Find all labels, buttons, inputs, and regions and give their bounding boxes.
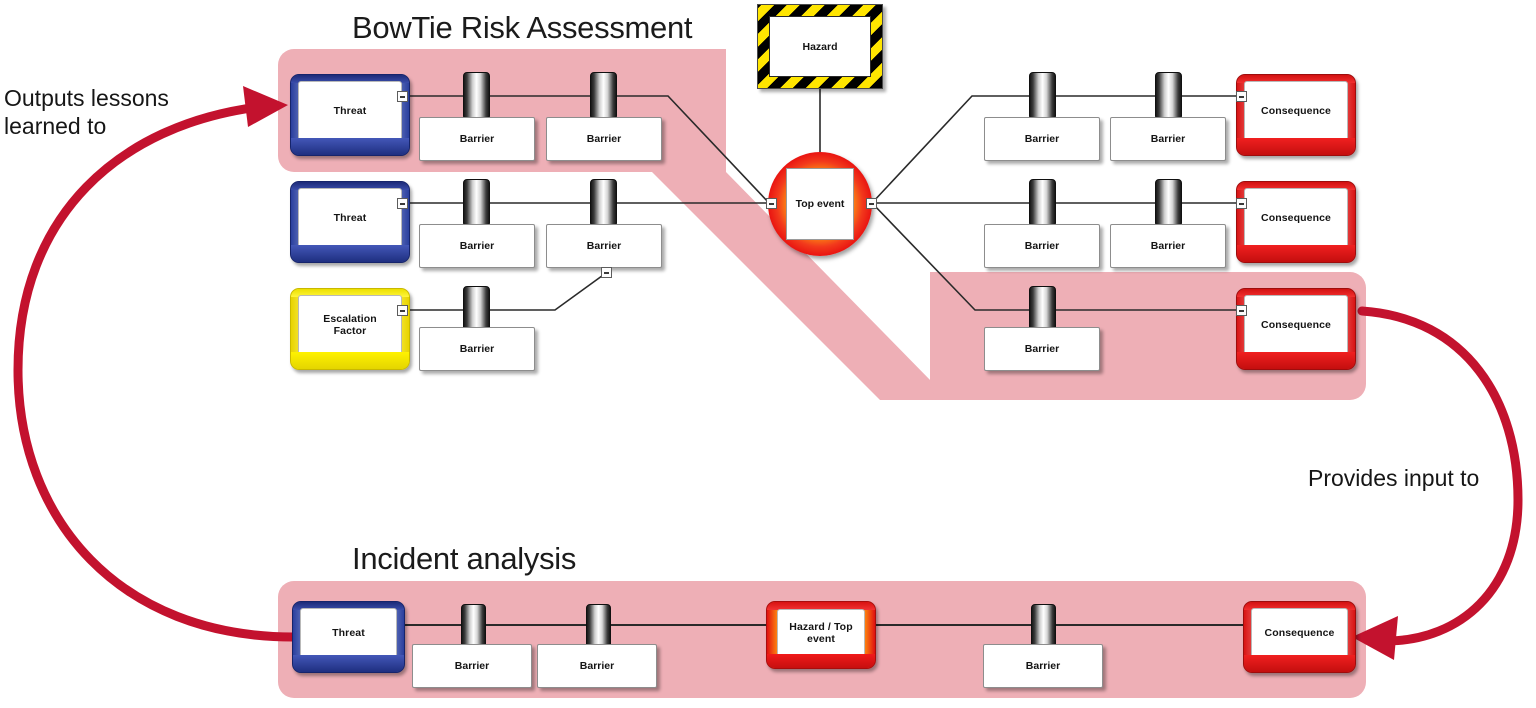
barrier-gate-threat2-a[interactable] — [463, 179, 490, 227]
hazard-box-label: Hazard — [769, 16, 871, 77]
threat-2-connector-knob[interactable] — [397, 198, 408, 209]
escalation-link-knob[interactable] — [601, 267, 612, 278]
consequence-3-connector-knob[interactable] — [1236, 305, 1247, 316]
escalation-connector-knob[interactable] — [397, 305, 408, 316]
consequence-box-3[interactable]: Consequence — [1236, 288, 1356, 370]
threat-box-2[interactable]: Threat — [290, 181, 410, 263]
top-event-right-knob[interactable] — [866, 198, 877, 209]
consequence-box-1-label: Consequence — [1244, 81, 1348, 141]
barrier-gate-threat2-b[interactable] — [590, 179, 617, 227]
top-event-label: Top event — [786, 168, 854, 240]
hazard-box[interactable]: Hazard — [757, 4, 883, 89]
barrier-threat2-a[interactable]: Barrier — [419, 224, 535, 268]
cycle-label-provides-input-to: Provides input to — [1308, 464, 1479, 492]
bowtie-risk-assessment-diagram: BowTie Risk Assessment Incident analysis… — [0, 0, 1536, 708]
barrier-cons2-a[interactable]: Barrier — [984, 224, 1100, 268]
incident-consequence-box[interactable]: Consequence — [1243, 601, 1356, 673]
incident-barrier-gate-b[interactable] — [586, 604, 611, 648]
incident-barrier-gate-c[interactable] — [1031, 604, 1056, 648]
incident-hazard-top-event-label: Hazard / Top event — [777, 609, 865, 657]
barrier-gate-threat1-a[interactable] — [463, 72, 490, 120]
incident-threat-label: Threat — [300, 608, 397, 658]
incident-consequence-label: Consequence — [1251, 608, 1348, 658]
consequence-box-2-label: Consequence — [1244, 188, 1348, 248]
barrier-cons1-b[interactable]: Barrier — [1110, 117, 1226, 161]
page-title-incident: Incident analysis — [352, 541, 576, 577]
threat-box-1[interactable]: Threat — [290, 74, 410, 156]
incident-barrier-c[interactable]: Barrier — [983, 644, 1103, 688]
barrier-gate-cons2-a[interactable] — [1029, 179, 1056, 227]
barrier-gate-cons2-b[interactable] — [1155, 179, 1182, 227]
barrier-threat2-b[interactable]: Barrier — [546, 224, 662, 268]
escalation-factor-box[interactable]: Escalation Factor — [290, 288, 410, 370]
page-title-bowtie: BowTie Risk Assessment — [352, 10, 692, 46]
incident-barrier-a[interactable]: Barrier — [412, 644, 532, 688]
barrier-cons1-a[interactable]: Barrier — [984, 117, 1100, 161]
barrier-escalation-a[interactable]: Barrier — [419, 327, 535, 371]
incident-hazard-top-event-box[interactable]: Hazard / Top event — [766, 601, 876, 669]
top-event-circle[interactable]: Top event — [768, 152, 872, 256]
incident-barrier-gate-a[interactable] — [461, 604, 486, 648]
barrier-gate-cons1-b[interactable] — [1155, 72, 1182, 120]
escalation-factor-label: Escalation Factor — [298, 295, 402, 355]
line-escalation-to-barrier — [410, 273, 606, 310]
threat-1-connector-knob[interactable] — [397, 91, 408, 102]
threat-box-1-label: Threat — [298, 81, 402, 141]
barrier-threat1-a[interactable]: Barrier — [419, 117, 535, 161]
threat-box-2-label: Threat — [298, 188, 402, 248]
top-event-left-knob[interactable] — [766, 198, 777, 209]
consequence-box-3-label: Consequence — [1244, 295, 1348, 355]
incident-barrier-b[interactable]: Barrier — [537, 644, 657, 688]
consequence-2-connector-knob[interactable] — [1236, 198, 1247, 209]
barrier-threat1-b[interactable]: Barrier — [546, 117, 662, 161]
barrier-cons2-b[interactable]: Barrier — [1110, 224, 1226, 268]
barrier-gate-cons1-a[interactable] — [1029, 72, 1056, 120]
outputs-lessons-learned-arrow — [18, 107, 293, 637]
barrier-gate-threat1-b[interactable] — [590, 72, 617, 120]
consequence-box-1[interactable]: Consequence — [1236, 74, 1356, 156]
consequence-1-connector-knob[interactable] — [1236, 91, 1247, 102]
cycle-label-outputs-lessons-learned: Outputs lessons learned to — [4, 84, 169, 140]
barrier-cons3-a[interactable]: Barrier — [984, 327, 1100, 371]
incident-threat-box[interactable]: Threat — [292, 601, 405, 673]
consequence-box-2[interactable]: Consequence — [1236, 181, 1356, 263]
